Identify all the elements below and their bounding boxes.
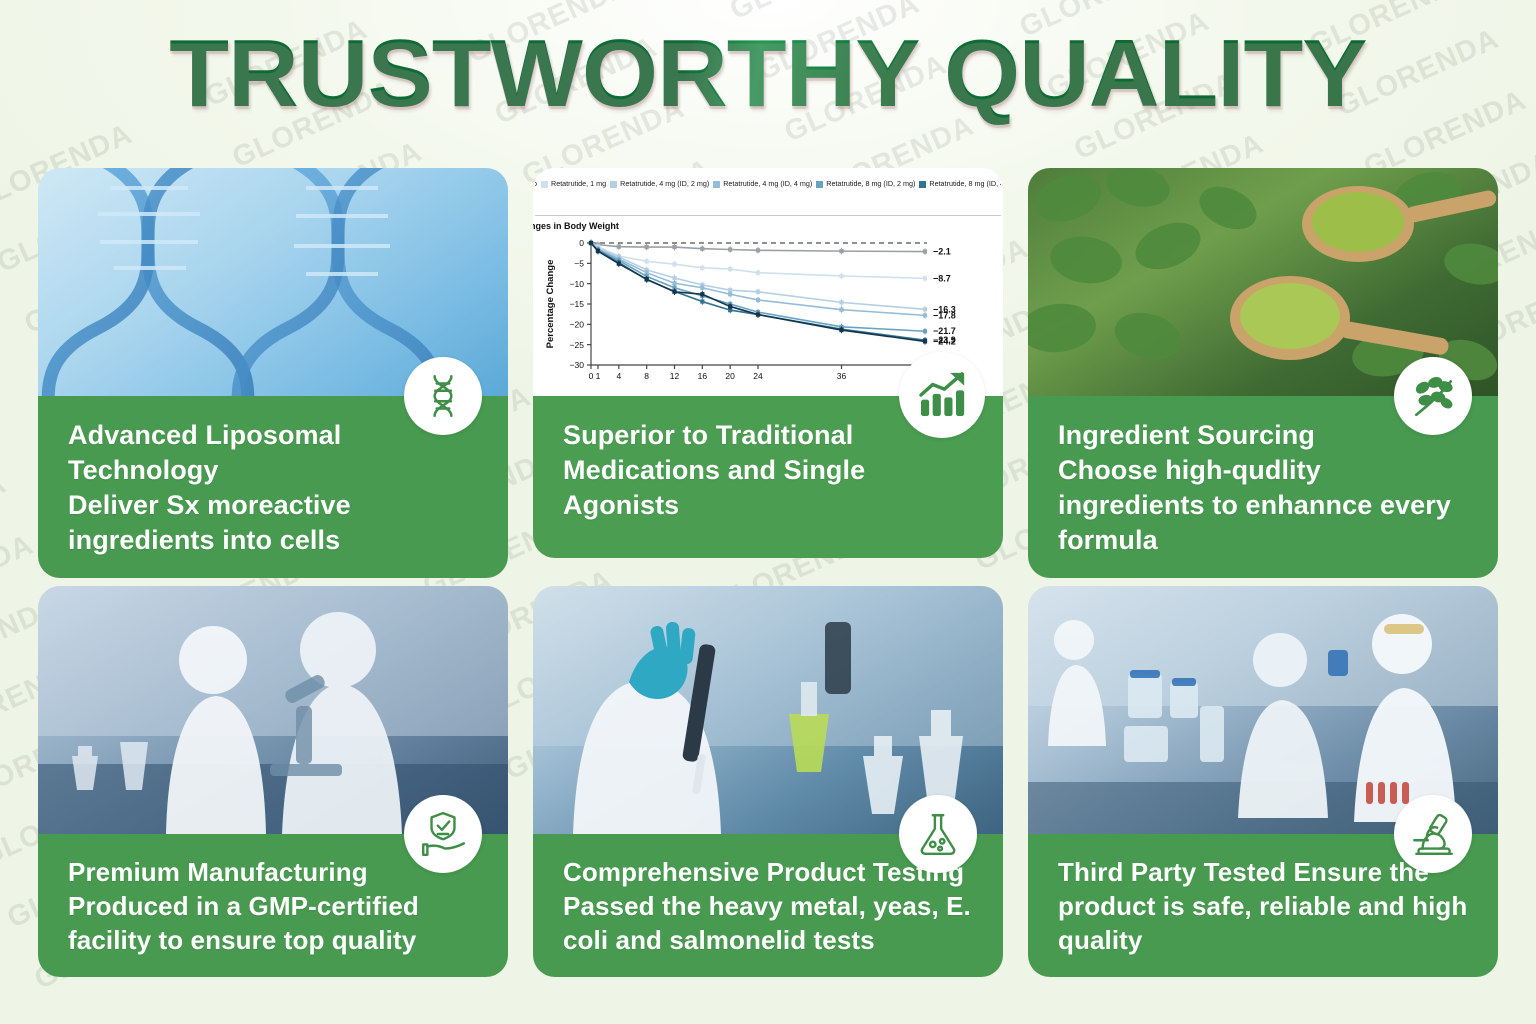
legend-swatch xyxy=(816,181,823,188)
legend-item-reta-1mg: Retatrutide, 1 mg xyxy=(541,180,610,189)
legend-item-reta-8mg-id2: Retatrutide, 8 mg (ID, 2 mg) xyxy=(816,180,919,189)
feature-card-comprehensive-product-testing[interactable]: Comprehensive Product Testing Passed the… xyxy=(533,586,1003,976)
svg-text:−10: −10 xyxy=(570,279,585,289)
legend-item-reta-4mg-id2: Retatrutide, 4 mg (ID, 2 mg) xyxy=(610,180,713,189)
feature-card-advanced-liposomal-technology[interactable]: Advanced Liposomal Technology Deliver Sx… xyxy=(38,168,508,558)
dna-icon xyxy=(418,371,468,421)
legend-label: Retatrutide, 8 mg (ID, 2 mg) xyxy=(826,180,915,189)
chart-title: anges in Body Weight xyxy=(533,216,1003,231)
infographic-page: GLORENDAGLORENDAGLORENDAGLORENDAGLORENDA… xyxy=(0,0,1536,1024)
card-body-superior-to-traditional-medications: Superior to Traditional Medications and … xyxy=(533,396,1003,558)
growth-chart-icon-badge xyxy=(899,352,985,438)
card-body-comprehensive-product-testing: Comprehensive Product Testing Passed the… xyxy=(533,834,1003,977)
legend-item-reta-8mg-id4: Retatrutide, 8 mg (ID, 4 mg) xyxy=(919,180,1001,189)
svg-text:12: 12 xyxy=(670,371,680,381)
card-body-third-party-tested: Third Party Tested Ensure the product is… xyxy=(1028,834,1498,977)
legend-item-reta-4mg-id4: Retatrutide, 4 mg (ID, 4 mg) xyxy=(713,180,816,189)
svg-text:−25: −25 xyxy=(570,340,585,350)
leaf-branch-icon xyxy=(1408,371,1458,421)
card-text: Comprehensive Product Testing Passed the… xyxy=(563,856,977,957)
growth-chart-icon xyxy=(914,367,970,423)
legend-label: Retatrutide, 8 mg (ID, 4 mg) xyxy=(929,180,1001,189)
legend-swatch xyxy=(919,181,926,188)
svg-text:−8.7: −8.7 xyxy=(933,273,951,283)
card-text: Superior to Traditional Medications and … xyxy=(563,418,977,523)
legend-swatch xyxy=(610,181,617,188)
svg-text:16: 16 xyxy=(698,371,708,381)
svg-text:0: 0 xyxy=(589,371,594,381)
card-text: Third Party Tested Ensure the product is… xyxy=(1058,856,1472,957)
legend-swatch xyxy=(541,181,548,188)
leaf-branch-icon-badge xyxy=(1394,357,1472,435)
watermark-text: GLORENDA xyxy=(0,394,10,518)
flask-icon xyxy=(913,809,963,859)
svg-text:36: 36 xyxy=(837,371,847,381)
card-body-advanced-liposomal-technology: Advanced Liposomal Technology Deliver Sx… xyxy=(38,396,508,578)
svg-text:Percentage Change: Percentage Change xyxy=(545,260,556,349)
green-liquid-flask xyxy=(789,714,829,772)
feature-card-ingredient-sourcing[interactable]: Ingredient Sourcing Choose high-qudlity … xyxy=(1028,168,1498,558)
legend-label: Retatrutide, 4 mg (ID, 4 mg) xyxy=(723,180,812,189)
feature-card-premium-manufacturing[interactable]: Premium Manufacturing Produced in a GMP-… xyxy=(38,586,508,976)
feature-card-grid: Advanced Liposomal Technology Deliver Sx… xyxy=(38,168,1498,988)
dark-bottle xyxy=(825,622,851,694)
page-title: TRUSTWORTHY QUALITY xyxy=(169,24,1366,125)
svg-text:24: 24 xyxy=(753,371,763,381)
microscope-icon xyxy=(1408,809,1458,859)
svg-text:−5: −5 xyxy=(574,259,584,269)
watermark-text: GLORENDA xyxy=(0,456,38,580)
svg-text:−17.8: −17.8 xyxy=(933,310,956,320)
feature-card-third-party-tested[interactable]: Third Party Tested Ensure the product is… xyxy=(1028,586,1498,976)
card-text: Advanced Liposomal Technology Deliver Sx… xyxy=(68,418,482,558)
watermark-text: GLORENDA xyxy=(409,0,634,21)
card-body-premium-manufacturing: Premium Manufacturing Produced in a GMP-… xyxy=(38,834,508,977)
svg-text:8: 8 xyxy=(644,371,649,381)
hand-shield-check-icon-badge xyxy=(404,795,482,873)
card-text: Premium Manufacturing Produced in a GMP-… xyxy=(68,856,482,957)
svg-text:20: 20 xyxy=(725,371,735,381)
svg-text:−2.1: −2.1 xyxy=(933,247,951,257)
svg-text:−30: −30 xyxy=(570,360,585,370)
hand-shield-check-icon xyxy=(418,809,468,859)
card-body-ingredient-sourcing: Ingredient Sourcing Choose high-qudlity … xyxy=(1028,396,1498,578)
svg-text:−15: −15 xyxy=(570,299,585,309)
legend-swatch xyxy=(713,181,720,188)
wooden-spoon-bottom xyxy=(1230,276,1450,360)
svg-text:0: 0 xyxy=(579,238,584,248)
svg-text:4: 4 xyxy=(616,371,621,381)
chart-legend: ebo Retatrutide, 1 mg Retatrutide, 4 mg … xyxy=(535,174,1001,216)
legend-label: ebo xyxy=(535,180,537,189)
watermark-text: GLORENDA xyxy=(1251,0,1476,13)
legend-label: Retatrutide, 4 mg (ID, 2 mg) xyxy=(620,180,709,189)
feature-card-superior-to-traditional-medications[interactable]: ebo Retatrutide, 1 mg Retatrutide, 4 mg … xyxy=(533,168,1003,558)
svg-text:−20: −20 xyxy=(570,320,585,330)
card-text: Ingredient Sourcing Choose high-qudlity … xyxy=(1058,418,1472,558)
svg-text:−24.2: −24.2 xyxy=(933,336,956,346)
flask-icon-badge xyxy=(899,795,977,873)
microscope-icon-badge xyxy=(1394,795,1472,873)
svg-text:1: 1 xyxy=(596,371,601,381)
dna-icon-badge xyxy=(404,357,482,435)
page-title-container: TRUSTWORTHY QUALITY xyxy=(0,24,1536,125)
legend-label: Retatrutide, 1 mg xyxy=(551,180,606,189)
